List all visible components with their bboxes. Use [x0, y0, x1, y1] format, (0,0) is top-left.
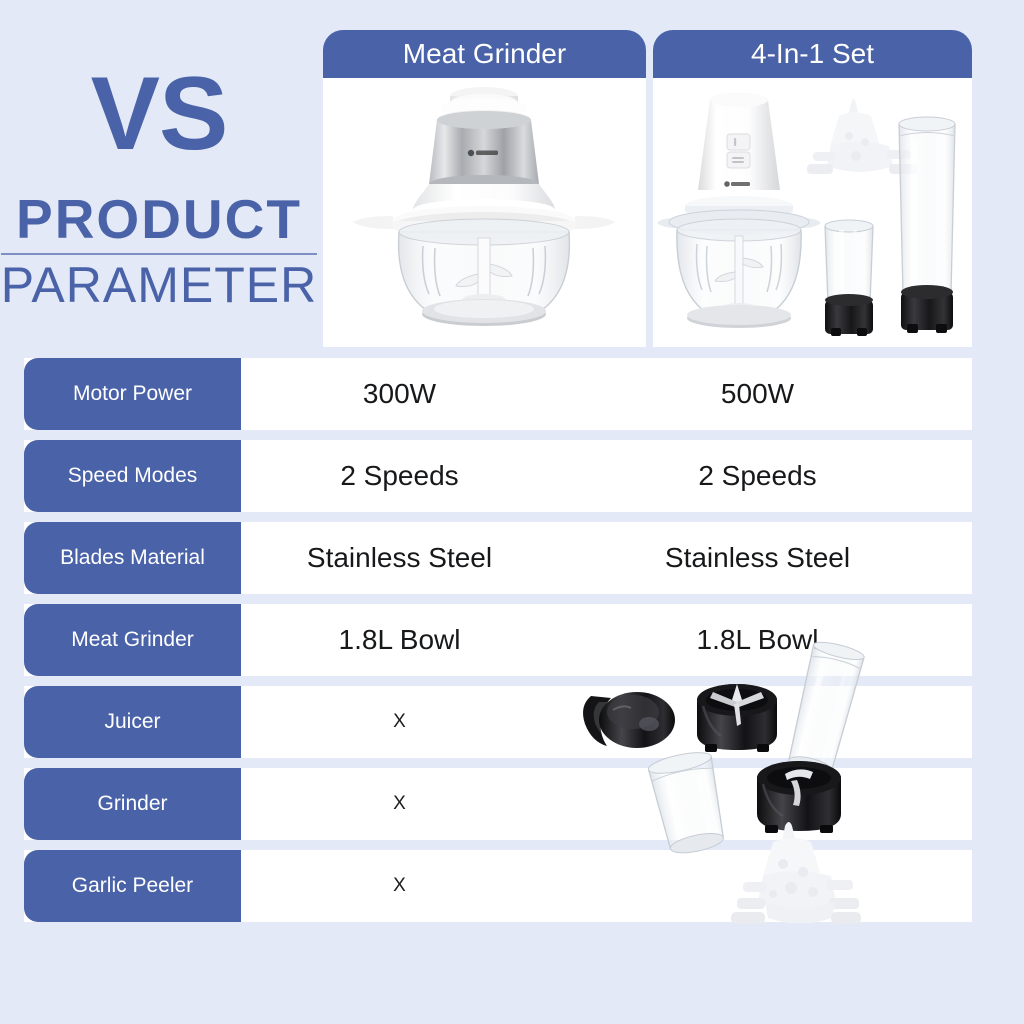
- title-product: PRODUCT: [1, 191, 317, 249]
- cell-garlic-peeler-right: [599, 850, 916, 922]
- cell-grinder-right: [599, 768, 916, 840]
- cell-grinder-left: X: [241, 768, 558, 840]
- row-label-motor-power: Motor Power: [24, 358, 241, 430]
- juicer-blade-base: [697, 684, 777, 752]
- table-row: Meat Grinder 1.8L Bowl 1.8L Bowl: [24, 604, 972, 676]
- table-row: Blades Material Stainless Steel Stainles…: [24, 522, 972, 594]
- cell-speed-modes-right: 2 Speeds: [599, 440, 916, 512]
- row-label-grinder: Grinder: [24, 768, 241, 840]
- title-block: VS PRODUCT PARAMETER: [0, 60, 318, 313]
- cell-motor-power-left: 300W: [241, 358, 558, 430]
- title-subblock: PRODUCT PARAMETER: [1, 191, 317, 313]
- cell-juicer-left: X: [241, 686, 558, 758]
- cell-motor-power-right: 500W: [599, 358, 916, 430]
- row-label-meat-grinder: Meat Grinder: [24, 604, 241, 676]
- table-row: Speed Modes 2 Speeds 2 Speeds: [24, 440, 972, 512]
- row-label-garlic-peeler: Garlic Peeler: [24, 850, 241, 922]
- cell-blades-material-right: Stainless Steel: [599, 522, 916, 594]
- product-image-meat-grinder: [323, 78, 646, 347]
- grinder-cup: [647, 748, 730, 857]
- cell-blades-material-left: Stainless Steel: [241, 522, 558, 594]
- table-row: Motor Power 300W 500W: [24, 358, 972, 430]
- title-parameter: PARAMETER: [1, 258, 317, 313]
- meat-grinder-illustration: [323, 78, 646, 347]
- table-row: Grinder X: [24, 768, 972, 840]
- column-header-meat-grinder[interactable]: Meat Grinder: [323, 30, 646, 78]
- cell-meat-grinder-right: 1.8L Bowl: [599, 604, 916, 676]
- row-label-juicer: Juicer: [24, 686, 241, 758]
- brand-logo-right: [724, 181, 750, 187]
- table-row: Juicer X: [24, 686, 972, 758]
- table-row: Garlic Peeler X: [24, 850, 972, 922]
- grinder-cup-part: [825, 220, 873, 336]
- product-image-four-in-one: [653, 78, 972, 347]
- row-label-speed-modes: Speed Modes: [24, 440, 241, 512]
- column-header-four-in-one[interactable]: 4-In-1 Set: [653, 30, 972, 78]
- four-in-one-illustration: [653, 78, 972, 347]
- garlic-peeler-illustration: [715, 820, 865, 955]
- cell-speed-modes-left: 2 Speeds: [241, 440, 558, 512]
- comparison-infographic: VS PRODUCT PARAMETER Meat Grinder 4-In-1…: [0, 0, 1024, 1024]
- juicer-bottle-part: [899, 117, 955, 333]
- cell-meat-grinder-left: 1.8L Bowl: [241, 604, 558, 676]
- cell-garlic-peeler-left: X: [241, 850, 558, 922]
- grinder-blade-base: [757, 761, 841, 833]
- cell-juicer-right: [599, 686, 916, 758]
- title-divider: [1, 253, 317, 255]
- vs-heading: VS: [0, 60, 318, 169]
- row-label-blades-material: Blades Material: [24, 522, 241, 594]
